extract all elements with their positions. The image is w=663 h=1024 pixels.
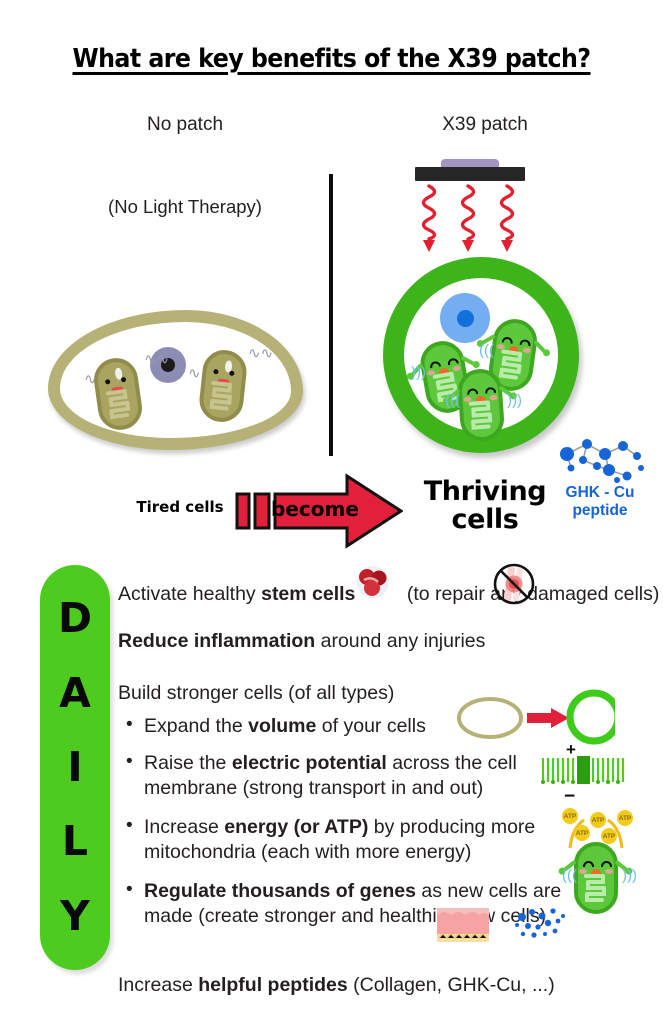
nucleus-blue-icon — [440, 293, 490, 343]
atp-production-icon: ATPATP ATPATPATP ((( ))) — [548, 806, 648, 888]
vibration-icon: ((( — [479, 343, 494, 358]
volume-post: of your cells — [316, 715, 425, 737]
peptides-bold: helpful peptides — [198, 974, 348, 996]
daily-letter-a: A — [59, 673, 91, 714]
column-heading-x39-patch: X39 patch — [380, 114, 590, 136]
benefits-list: Activate healthy stem cells (to repair a… — [118, 572, 663, 998]
svg-text:ATP: ATP — [592, 817, 605, 824]
tired-wiggle-icon: ∿ — [84, 372, 97, 387]
become-arrow-icon — [235, 470, 403, 552]
stem-cells-icon — [356, 566, 390, 605]
sad-mitochondrion-icon — [197, 348, 248, 424]
electric-pre: Raise the — [144, 752, 232, 774]
tired-wiggle-icon: ∿∿ — [248, 346, 273, 361]
no-light-therapy-label: (No Light Therapy) — [50, 196, 320, 218]
stem-pre: Activate healthy — [118, 583, 261, 605]
daily-letter-d: D — [58, 598, 92, 639]
thriving-cell-illustration: ))) ((( ((( ))) — [383, 257, 579, 453]
vibration-icon: ))) — [622, 868, 637, 883]
svg-text:ATP: ATP — [619, 815, 632, 822]
electric-bold: electric potential — [232, 752, 387, 774]
benefit-helpful-peptides: Increase helpful peptides (Collagen, GHK… — [118, 973, 663, 998]
ghk-cu-molecule-icon — [553, 432, 649, 488]
tired-cell-illustration: ∿∿ ∿ ∿∿ ∿ — [48, 310, 303, 450]
vibration-icon: ))) — [411, 365, 426, 380]
genes-bold: Regulate thousands of genes — [144, 880, 416, 902]
happy-mitochondrion-icon — [457, 368, 506, 443]
infographic-page: What are key benefits of the X39 patch? … — [0, 0, 663, 1024]
benefit-electric-potential: Raise the electric potential across the … — [118, 751, 544, 801]
inflammation-post: around any injuries — [315, 630, 485, 652]
page-title: What are key benefits of the X39 patch? — [23, 44, 640, 74]
tired-wiggle-icon: ∿ — [188, 366, 201, 381]
volume-bold: volume — [248, 715, 316, 737]
peptide-dots-icon — [512, 905, 568, 946]
x39-patch-device-icon — [415, 159, 525, 181]
benefit-stem-cells: Activate healthy stem cells (to repair a… — [118, 582, 663, 607]
svg-text:ATP: ATP — [603, 833, 616, 840]
peptides-post: (Collagen, GHK-Cu, ...) — [348, 974, 555, 996]
atp-label: ATP — [564, 813, 577, 820]
happy-mitochondrion-icon — [574, 842, 618, 914]
inflammation-bold: Reduce inflammation — [118, 630, 315, 652]
daily-letter-l: L — [62, 821, 88, 862]
column-divider — [329, 174, 333, 456]
peptides-pre: Increase — [118, 974, 198, 996]
energy-bold: energy (or ATP) — [224, 816, 368, 838]
tired-wiggle-icon: ∿∿ — [144, 352, 169, 367]
no-inflammation-icon — [493, 563, 535, 612]
volume-pre: Expand the — [144, 715, 248, 737]
vibration-icon: ((( — [562, 868, 577, 883]
thriving-cells-label: Thriving cells — [405, 478, 565, 534]
light-therapy-rays-icon — [415, 184, 525, 252]
benefit-reduce-inflammation: Reduce inflammation around any injuries — [118, 629, 663, 654]
energy-pre: Increase — [144, 816, 224, 838]
skin-collagen-icon — [437, 908, 489, 947]
thriving-line2: cells — [405, 506, 565, 534]
benefit-energy-atp: Increase energy (or ATP) by producing mo… — [118, 815, 544, 865]
daily-badge: D A I L Y — [40, 565, 110, 970]
cell-expansion-icon — [455, 686, 615, 753]
thriving-line1: Thriving — [405, 478, 565, 506]
svg-text:ATP: ATP — [576, 830, 589, 837]
benefit-regulate-genes: Regulate thousands of genes as new cells… — [118, 879, 564, 929]
stem-bold: stem cells — [261, 583, 355, 605]
tired-cells-label: Tired cells — [120, 498, 240, 516]
daily-letter-i: I — [67, 747, 82, 788]
membrane-minus-label: − — [564, 786, 575, 808]
column-heading-no-patch: No patch — [80, 114, 290, 136]
vibration-icon: ))) — [507, 393, 522, 408]
vibration-icon: ((( — [445, 393, 460, 408]
daily-letter-y: Y — [60, 896, 90, 937]
